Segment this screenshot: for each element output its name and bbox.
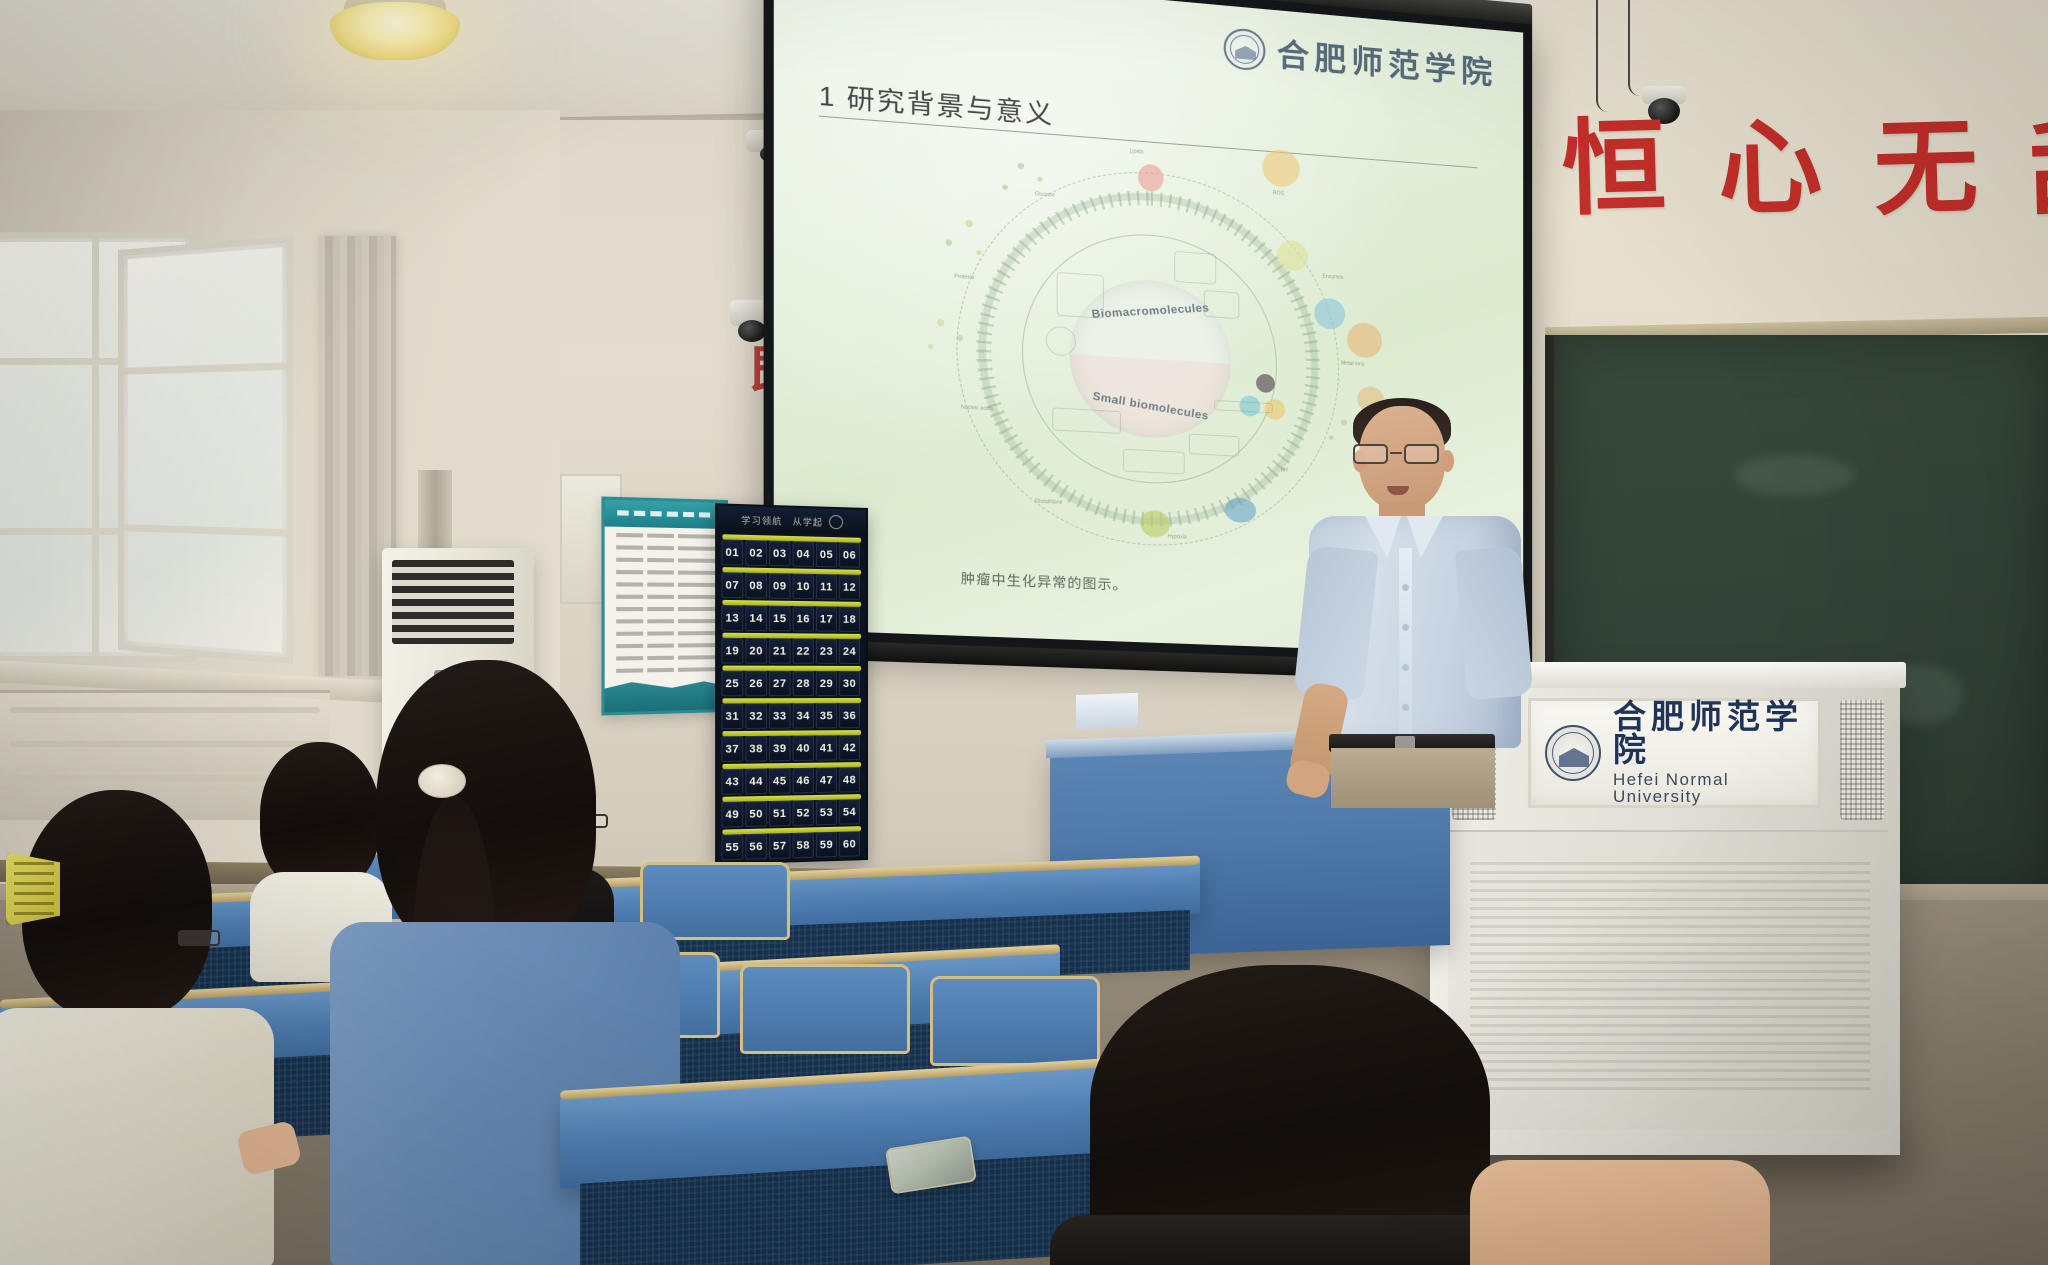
calligraphy-char-2: 心	[1717, 117, 1824, 224]
pocket-chart-slot-number: 52	[797, 807, 810, 819]
presenter-trousers	[1331, 748, 1495, 808]
pocket-chart-slot[interactable]: 05	[816, 542, 837, 568]
slide-university-name: 合肥师范学院	[1277, 29, 1497, 94]
pocket-chart-slot-number: 38	[749, 743, 763, 755]
presenter-sleeve-right	[1455, 545, 1534, 700]
pocket-chart-slot-number: 39	[773, 742, 787, 754]
pocket-chart-slot-number: 33	[773, 710, 787, 722]
ac-pipe	[418, 470, 452, 554]
pocket-chart-row: 373839404142	[720, 730, 863, 764]
slide-caption: 肿瘤中生化异常的图示。	[961, 567, 1128, 594]
pocket-chart-slot-number: 04	[797, 548, 810, 560]
pocket-chart-row: 313233343536	[720, 698, 863, 731]
pocket-chart-title: 学习领航 从学起	[741, 513, 823, 529]
pocket-chart-slot[interactable]: 57	[769, 833, 790, 859]
pocket-chart-slot-number: 28	[797, 677, 810, 689]
diagram-blob	[1140, 510, 1170, 538]
pocket-chart-slot[interactable]: 50	[745, 801, 767, 827]
ceiling-light	[330, 0, 460, 62]
pocket-chart-slot-number: 09	[773, 580, 787, 592]
pocket-chart-row: 192021222324	[720, 633, 863, 666]
pocket-chart-slot[interactable]: 40	[793, 735, 814, 761]
pocket-chart-slot-number: 47	[820, 774, 833, 786]
pocket-chart-slot-number: 37	[725, 743, 739, 755]
window-mullion	[92, 238, 99, 656]
diagram-dot	[1037, 177, 1042, 183]
pocket-chart-row: 434445464748	[720, 762, 863, 797]
glasses-icon	[178, 930, 220, 946]
pocket-chart-slot[interactable]: 27	[769, 671, 790, 696]
pocket-chart-row: 252627282930	[720, 666, 863, 699]
pocket-chart-slot[interactable]: 44	[745, 768, 767, 794]
podium-speaker-right	[1840, 700, 1884, 820]
pocket-chart-slot-number: 54	[843, 806, 856, 818]
pocket-chart-slot[interactable]: 15	[769, 606, 790, 632]
slide-section-title: 1 研究背景与意义	[819, 75, 1054, 132]
slide-university-logo: 合肥师范学院	[1224, 24, 1498, 94]
diagram-dot	[1002, 184, 1007, 190]
window-pane	[128, 247, 282, 653]
pocket-chart-slot-number: 07	[725, 579, 739, 592]
pocket-chart-slot[interactable]: 22	[793, 638, 814, 663]
pocket-chart-row: 010203040506	[720, 534, 863, 570]
ac-louvers	[392, 560, 514, 644]
diagram-dot	[1018, 163, 1025, 170]
pocket-chart-row: 070809101112	[720, 567, 863, 602]
pocket-chart-slot-number: 02	[749, 547, 763, 560]
pocket-chart-slot[interactable]: 31	[721, 703, 743, 729]
pocket-chart-slot[interactable]: 51	[769, 801, 790, 827]
pocket-chart-slot[interactable]: 35	[816, 703, 837, 728]
pocket-chart-slot-number: 48	[843, 774, 856, 786]
pocket-chart-slot[interactable]: 33	[769, 703, 790, 729]
pocket-chart-slot[interactable]: 52	[793, 800, 814, 826]
pocket-chart-slot-number: 29	[820, 677, 833, 689]
diagram-ring-label: Lipids	[1130, 148, 1144, 155]
pocket-chart-slot[interactable]: 18	[839, 607, 860, 632]
pocket-chart-slot-number: 27	[773, 677, 787, 689]
pocket-chart-slot[interactable]: 59	[816, 832, 837, 858]
university-seal-icon	[1224, 26, 1266, 71]
pocket-chart-slot-number: 01	[725, 546, 739, 559]
pocket-chart-slot-number: 56	[749, 840, 763, 853]
pocket-chart-slot[interactable]: 38	[745, 736, 767, 762]
calligraphy-char-1: 恒	[1561, 117, 1668, 224]
pocket-chart-slot[interactable]: 48	[839, 767, 860, 792]
pocket-chart-slot-number: 06	[843, 549, 856, 561]
pocket-chart-slot-number: 42	[843, 742, 856, 754]
diagram-dot	[937, 319, 945, 327]
pocket-chart-slot-number: 08	[749, 579, 763, 591]
diagram-structure	[1123, 449, 1185, 475]
hair-clip	[6, 852, 60, 926]
pocket-chart-slot-number: 23	[820, 645, 833, 657]
pocket-chart-slot[interactable]: 32	[745, 703, 767, 729]
pocket-chart-slot-number: 18	[843, 613, 856, 625]
pocket-chart-slot[interactable]: 29	[816, 671, 837, 696]
pocket-chart-slot-number: 30	[843, 677, 856, 689]
presenter	[1295, 398, 1550, 798]
diagram-dot	[928, 343, 934, 349]
pocket-chart-slot-number: 59	[820, 838, 833, 850]
pocket-chart-slot-number: 19	[725, 645, 739, 657]
pocket-chart-slot[interactable]: 23	[816, 639, 837, 664]
pocket-chart-slot[interactable]: 55	[721, 834, 743, 860]
pocket-chart-slot-number: 21	[773, 645, 787, 657]
pocket-chart-slot-number: 20	[749, 645, 763, 657]
arm	[1470, 1160, 1770, 1265]
pocket-chart-slot-number: 14	[749, 612, 763, 624]
diagram-ring-label: Nucleic acids	[961, 404, 993, 412]
pocket-chart-slot[interactable]: 46	[793, 768, 814, 794]
university-seal-icon	[1545, 725, 1601, 781]
pocket-chart-slot[interactable]: 21	[769, 638, 790, 664]
diagram-ring-label: ROS	[1273, 190, 1284, 197]
diagram-blob	[1262, 148, 1299, 188]
wall-calligraphy: 恒 心 无 敌	[1562, 118, 2048, 222]
classroom-photo-scene: 良 恒 心 无 敌 合肥师范学院 1 研究背景与意义	[0, 0, 2048, 1265]
pocket-chart-slot[interactable]: 43	[721, 769, 743, 795]
pocket-chart-slot[interactable]: 20	[745, 638, 767, 664]
diagram-ring-label: Proteins	[954, 274, 974, 282]
pocket-chart-row: 131415161718	[720, 600, 863, 634]
pocket-chart-slot-number: 26	[749, 677, 763, 689]
pocket-chart-row: 555657585960	[720, 826, 863, 862]
calligraphy-char-4: 敌	[2029, 117, 2048, 224]
diagram-structure	[1057, 272, 1104, 319]
pocket-chart-slot-number: 34	[797, 710, 810, 722]
diagram-blob	[1347, 322, 1382, 359]
pocket-chart-slot-number: 10	[797, 580, 810, 592]
audience-member-foreground-right	[1090, 965, 1520, 1265]
pocket-chart-slot-number: 43	[725, 776, 739, 789]
pocket-chart-slot[interactable]: 53	[816, 800, 837, 826]
pocket-chart-slot[interactable]: 09	[769, 573, 790, 599]
poster-header-text	[617, 510, 713, 517]
pocket-chart-slot[interactable]: 49	[721, 802, 743, 828]
pocket-chart-slot-number: 32	[749, 710, 763, 722]
pocket-chart-grid: 0102030405060708091011121314151617181920…	[720, 534, 863, 859]
podium-plaque: 合肥师范学院 Hefei Normal University	[1528, 698, 1821, 808]
presenter-shirt-placket	[1399, 548, 1412, 746]
pocket-chart-slot[interactable]: 06	[839, 542, 860, 568]
pocket-chart-slot-number: 15	[773, 612, 787, 624]
pocket-chart-slot-number: 44	[749, 775, 763, 787]
phone-pocket-chart: 学习领航 从学起 0102030405060708091011121314151…	[715, 503, 868, 864]
pocket-chart-slot[interactable]: 58	[793, 832, 814, 858]
light-glow	[330, 2, 460, 60]
pocket-chart-slot[interactable]: 41	[816, 735, 837, 760]
poster-header	[605, 500, 725, 529]
pocket-chart-seal-icon	[829, 515, 843, 529]
window-right	[118, 236, 293, 665]
pocket-chart-slot[interactable]: 14	[745, 605, 767, 631]
pocket-chart-slot[interactable]: 36	[839, 703, 860, 728]
pocket-chart-slot-number: 46	[797, 774, 810, 786]
pocket-chart-slot-number: 57	[773, 840, 787, 853]
pocket-chart-slot-number: 17	[820, 613, 833, 625]
chair	[740, 964, 910, 1054]
pocket-chart-slot[interactable]: 28	[793, 671, 814, 696]
hair-scrunchie	[418, 764, 466, 798]
diagram-ring-label: Glucose	[1035, 191, 1055, 199]
pocket-chart-slot[interactable]: 60	[839, 831, 860, 857]
podium-vent	[1470, 860, 1870, 1090]
pocket-chart-slot[interactable]: 26	[745, 671, 767, 697]
desk-item-box	[1076, 693, 1138, 729]
diagram-structure	[1174, 251, 1216, 285]
pocket-chart-slot-number: 12	[843, 581, 856, 593]
pocket-chart-slot-number: 36	[843, 710, 856, 722]
pocket-chart-slot[interactable]: 56	[745, 834, 767, 860]
pocket-chart-slot[interactable]: 42	[839, 735, 860, 760]
poster-body	[612, 533, 718, 677]
pocket-chart-slot-number: 50	[749, 808, 763, 821]
diagram-blob	[1256, 374, 1275, 394]
diagram-dot	[976, 250, 981, 256]
pocket-chart-slot-number: 35	[820, 710, 833, 722]
podium-plaque-cn: 合肥师范学院	[1613, 702, 1804, 768]
diagram-dot	[965, 220, 973, 228]
audience-member-right-edge	[1470, 1160, 1770, 1265]
pocket-chart-slot[interactable]: 19	[721, 638, 743, 664]
pocket-chart-slot-number: 03	[773, 547, 787, 559]
diagram-structure	[1189, 434, 1239, 457]
pocket-chart-row: 495051525354	[720, 794, 863, 830]
pocket-chart-slot-number: 45	[773, 775, 787, 787]
pocket-chart-slot[interactable]: 03	[769, 541, 790, 567]
pocket-chart-slot[interactable]: 16	[793, 606, 814, 632]
pocket-chart-slot-number: 51	[773, 807, 787, 819]
pocket-chart-slot-number: 24	[843, 645, 856, 657]
pocket-chart-slot-number: 16	[797, 613, 810, 625]
chair	[930, 976, 1100, 1066]
pocket-chart-slot[interactable]: 11	[816, 574, 837, 600]
pocket-chart-slot[interactable]: 34	[793, 703, 814, 728]
pocket-chart-slot[interactable]: 24	[839, 639, 860, 664]
ceiling-cables	[1628, 0, 1680, 96]
pocket-chart-slot[interactable]: 10	[793, 574, 814, 600]
pocket-chart-slot[interactable]: 30	[839, 671, 860, 696]
pocket-chart-slot-number: 11	[820, 581, 833, 593]
calligraphy-char-3: 无	[1873, 117, 1980, 224]
pocket-chart-slot[interactable]: 17	[816, 606, 837, 631]
pocket-chart-slot[interactable]: 08	[745, 573, 767, 599]
pocket-chart-slot-number: 41	[820, 742, 833, 754]
glasses-icon	[1353, 444, 1453, 464]
pocket-chart-slot[interactable]: 12	[839, 574, 860, 599]
pocket-chart-slot[interactable]: 37	[721, 736, 743, 762]
diagram-ring-label: Glutathione	[1035, 498, 1063, 506]
audience-member-front-left	[0, 790, 280, 1265]
pocket-chart-slot-number: 05	[820, 548, 833, 560]
diagram-dot	[945, 239, 952, 246]
pocket-chart-slot-number: 55	[725, 841, 739, 854]
diagram-structure	[1204, 290, 1240, 319]
pocket-chart-slot-number: 60	[843, 838, 856, 850]
torso	[0, 1008, 274, 1265]
pocket-chart-slot[interactable]: 25	[721, 671, 743, 697]
diagram-ring-label: Metal ions	[1341, 360, 1364, 368]
podium-plaque-en: Hefei Normal University	[1613, 771, 1804, 805]
pocket-chart-slot-number: 40	[797, 742, 810, 754]
pocket-chart-slot[interactable]: 39	[769, 736, 790, 762]
diagram-structure	[1052, 407, 1121, 434]
diagram-ring-label: Enzymes	[1322, 273, 1343, 281]
pocket-chart-slot[interactable]: 54	[839, 799, 860, 825]
diagram-ring-label: pH	[1281, 467, 1288, 473]
pocket-chart-slot-number: 58	[797, 839, 810, 852]
diagram-ring-label: Hypoxia	[1168, 534, 1187, 541]
pocket-chart-header: 学习领航 从学起	[717, 505, 866, 536]
pocket-chart-slot[interactable]: 47	[816, 767, 837, 793]
pocket-chart-slot[interactable]: 01	[721, 539, 743, 565]
pocket-chart-slot[interactable]: 45	[769, 768, 790, 794]
pocket-chart-slot[interactable]: 13	[721, 605, 743, 631]
diagram-dot	[956, 335, 963, 342]
pocket-chart-slot[interactable]: 02	[745, 540, 767, 566]
pocket-chart-slot-number: 13	[725, 612, 739, 624]
pocket-chart-slot-number: 25	[725, 677, 739, 689]
pocket-chart-slot-number: 31	[725, 710, 739, 722]
pocket-chart-slot-number: 49	[725, 808, 739, 821]
pocket-chart-slot[interactable]: 07	[721, 572, 743, 598]
pocket-chart-slot-number: 22	[797, 645, 810, 657]
pocket-chart-slot-number: 53	[820, 806, 833, 818]
pocket-chart-slot[interactable]: 04	[793, 541, 814, 567]
